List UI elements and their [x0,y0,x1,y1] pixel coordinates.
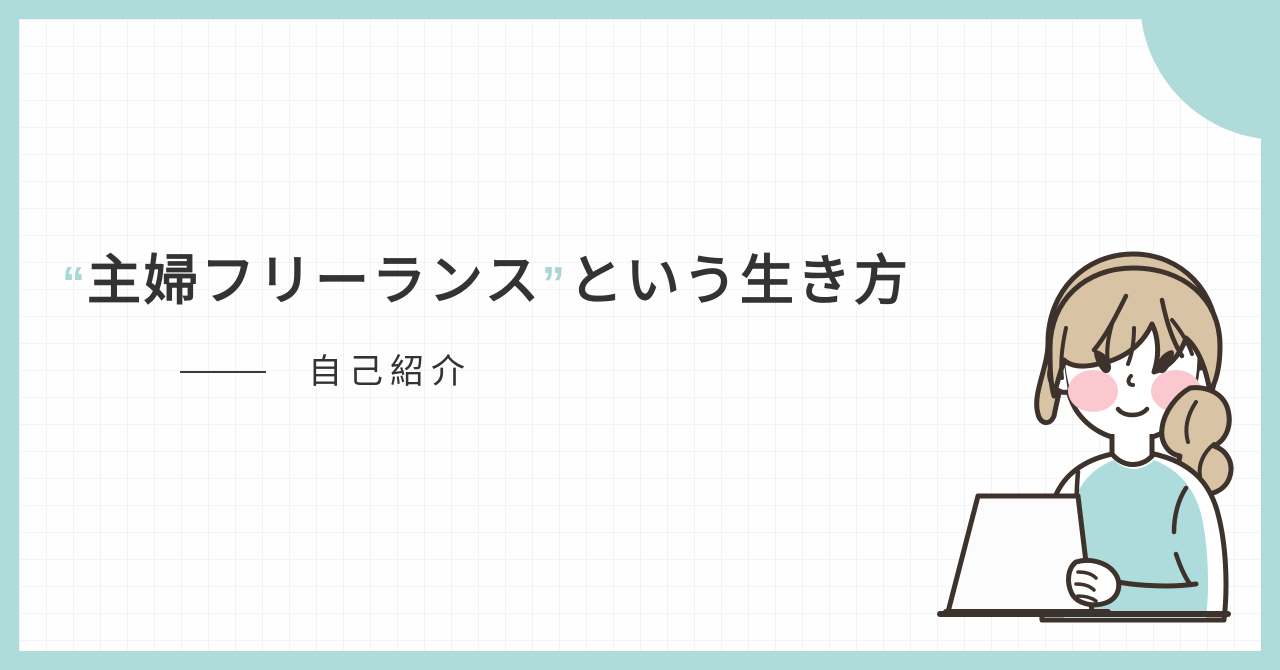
subtitle-dash [180,371,266,373]
page-title-keyword: 主婦フリーランス [87,252,542,311]
page-subtitle: 自己紹介 [308,355,472,389]
page-title: “ 主婦フリーランス ” という生き方 [62,252,962,311]
close-quote-mark: ” [542,260,565,306]
headline-block: “ 主婦フリーランス ” という生き方 自己紹介 [62,252,962,389]
hands-icon [1069,560,1119,604]
woman-at-laptop-illustration [880,228,1280,628]
page-title-suffix: という生き方 [569,252,911,311]
banner-canvas: “ 主婦フリーランス ” という生き方 自己紹介 [0,0,1280,670]
subtitle-row: 自己紹介 [180,355,962,389]
open-quote-mark: “ [62,260,85,306]
blush-left-icon [1068,370,1118,412]
